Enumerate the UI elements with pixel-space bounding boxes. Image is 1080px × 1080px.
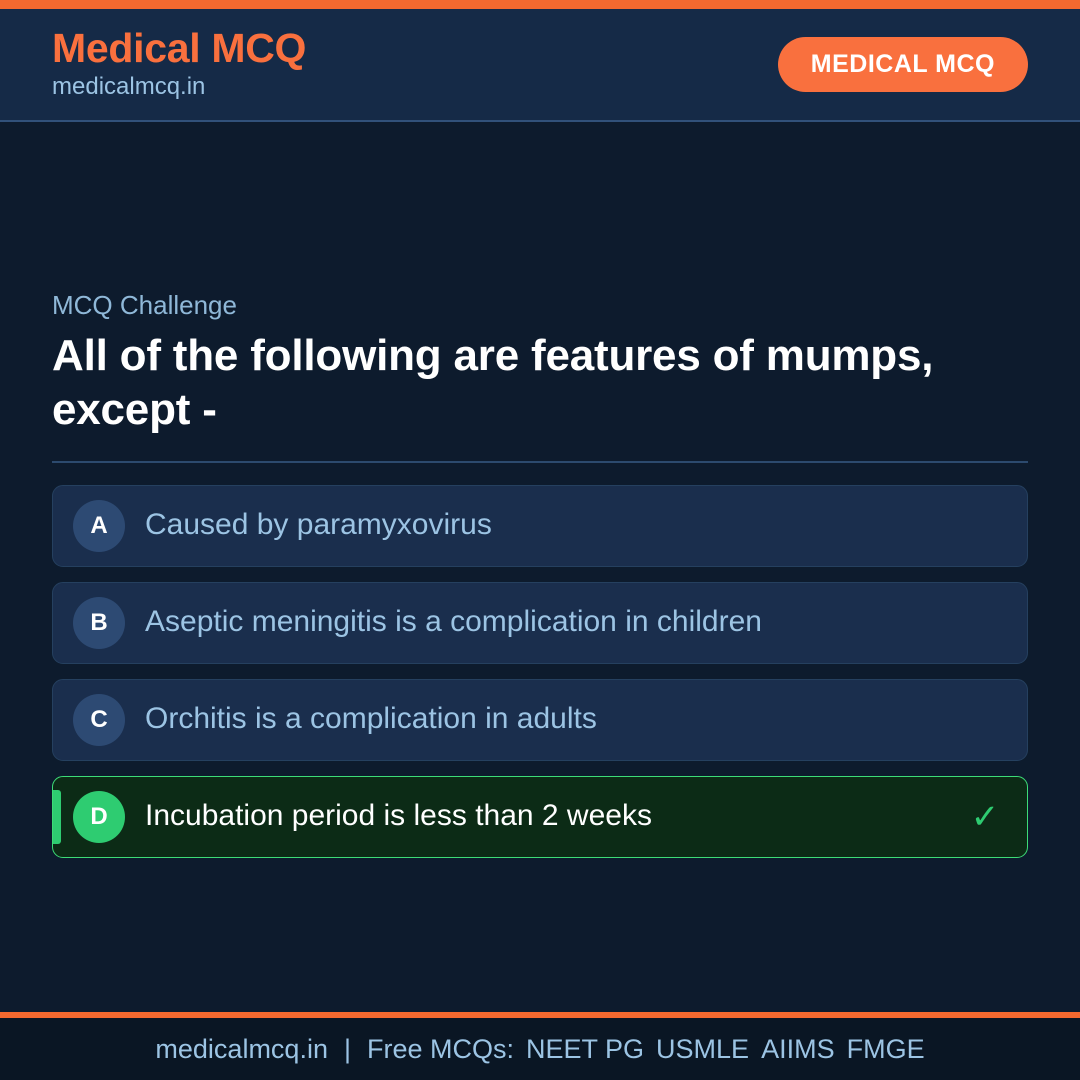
header-badge: MEDICAL MCQ (778, 37, 1028, 92)
brand-subtitle: medicalmcq.in (52, 72, 306, 102)
footer-label: Free MCQs: (367, 1034, 514, 1065)
footer-exam-usmle: USMLE (644, 1034, 749, 1065)
footer-separator: | (328, 1034, 367, 1065)
footer-exam-fmge: FMGE (835, 1034, 925, 1065)
brand-title: Medical MCQ (52, 27, 306, 70)
brand: Medical MCQ medicalmcq.in (52, 27, 306, 102)
footer: medicalmcq.in | Free MCQs: NEET PG USMLE… (0, 1018, 1080, 1080)
footer-exam-aiims: AIIMS (749, 1034, 835, 1065)
option-c[interactable]: C Orchitis is a complication in adults (52, 679, 1028, 761)
option-b[interactable]: B Aseptic meningitis is a complication i… (52, 582, 1028, 664)
option-text: Aseptic meningitis is a complication in … (145, 603, 1005, 641)
header: Medical MCQ medicalmcq.in MEDICAL MCQ (0, 9, 1080, 122)
option-text: Incubation period is less than 2 weeks (145, 797, 965, 835)
question-divider (52, 461, 1028, 463)
footer-exam-neet-pg: NEET PG (514, 1034, 644, 1065)
option-d-correct[interactable]: D Incubation period is less than 2 weeks… (52, 776, 1028, 858)
kicker-label: MCQ Challenge (52, 290, 1028, 321)
option-text: Caused by paramyxovirus (145, 506, 1005, 544)
option-text: Orchitis is a complication in adults (145, 700, 1005, 738)
footer-site: medicalmcq.in (155, 1034, 328, 1065)
option-letter-badge: B (73, 597, 125, 649)
top-accent-stripe (0, 0, 1080, 9)
options-list: A Caused by paramyxovirus B Aseptic meni… (52, 485, 1028, 858)
question-text: All of the following are features of mum… (52, 329, 1012, 436)
option-letter-badge: D (73, 791, 125, 843)
option-a[interactable]: A Caused by paramyxovirus (52, 485, 1028, 567)
option-letter-badge: C (73, 694, 125, 746)
correct-accent-bar (53, 790, 61, 844)
top-spacer (52, 122, 1028, 290)
option-letter-badge: A (73, 500, 125, 552)
checkmark-icon: ✓ (965, 800, 1005, 834)
main-content: MCQ Challenge All of the following are f… (0, 122, 1080, 1012)
mcq-card: Medical MCQ medicalmcq.in MEDICAL MCQ MC… (0, 0, 1080, 1080)
